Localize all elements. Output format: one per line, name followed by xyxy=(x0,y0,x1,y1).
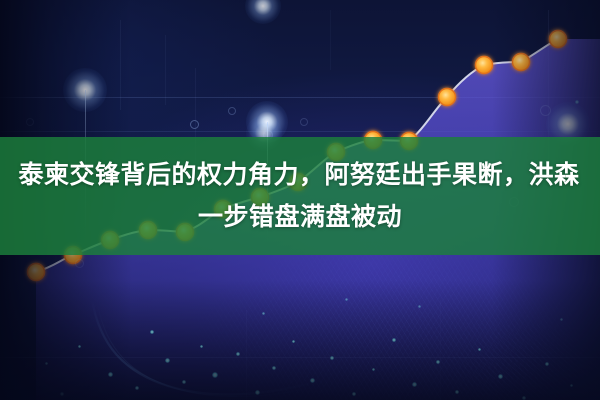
poster-canvas: 泰柬交锋背后的权力角力，阿努廷出手果断，洪森 一步错盘满盘被动 xyxy=(0,0,600,400)
headline-banner: 泰柬交锋背后的权力角力，阿努廷出手果断，洪森 一步错盘满盘被动 xyxy=(0,137,600,255)
headline-line-1: 泰柬交锋背后的权力角力，阿努廷出手果断，洪森 xyxy=(18,154,579,196)
headline-line-2: 一步错盘满盘被动 xyxy=(198,196,402,238)
